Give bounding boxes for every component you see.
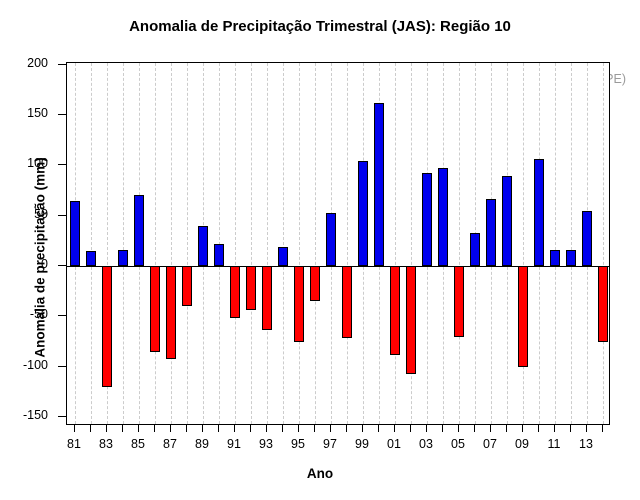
x-tick-label: 93	[251, 437, 281, 451]
x-tick-label: 03	[411, 437, 441, 451]
gridline	[571, 63, 572, 424]
x-tick-mark	[554, 425, 555, 432]
bar-94	[278, 247, 288, 266]
bar-86	[150, 266, 160, 352]
y-tick-label: 200	[8, 57, 48, 70]
x-tick-mark	[570, 425, 571, 432]
x-tick-label: 87	[155, 437, 185, 451]
y-tick-mark	[58, 366, 66, 367]
bar-88	[182, 266, 192, 306]
bar-14	[598, 266, 608, 342]
bar-01	[390, 266, 400, 355]
x-tick-mark	[106, 425, 107, 432]
y-tick-mark	[58, 416, 66, 417]
gridline	[523, 63, 524, 424]
x-tick-label: 99	[347, 437, 377, 451]
x-tick-mark	[362, 425, 363, 432]
y-tick-mark	[58, 265, 66, 266]
bar-81	[70, 201, 80, 266]
y-tick-mark	[58, 315, 66, 316]
x-tick-mark	[458, 425, 459, 432]
bar-98	[342, 266, 352, 338]
bar-96	[310, 266, 320, 301]
x-tick-mark	[74, 425, 75, 432]
gridline	[603, 63, 604, 424]
x-tick-mark	[378, 425, 379, 432]
bar-82	[86, 251, 96, 266]
x-tick-label: 97	[315, 437, 345, 451]
bar-06	[470, 233, 480, 266]
x-tick-mark	[490, 425, 491, 432]
x-tick-mark	[442, 425, 443, 432]
gridline	[555, 63, 556, 424]
bar-85	[134, 195, 144, 266]
x-tick-mark	[250, 425, 251, 432]
x-tick-label: 89	[187, 437, 217, 451]
x-axis-title: Ano	[0, 466, 640, 481]
bar-04	[438, 168, 448, 266]
plot-area	[66, 62, 610, 425]
bar-92	[246, 266, 256, 310]
bar-97	[326, 213, 336, 266]
gridline	[235, 63, 236, 424]
gridline	[283, 63, 284, 424]
x-tick-label: 05	[443, 437, 473, 451]
bar-02	[406, 266, 416, 374]
bar-12	[566, 250, 576, 266]
bar-05	[454, 266, 464, 337]
x-tick-mark	[298, 425, 299, 432]
y-tick-label: -150	[8, 409, 48, 422]
x-tick-mark	[186, 425, 187, 432]
x-tick-label: 83	[91, 437, 121, 451]
bar-95	[294, 266, 304, 342]
gridline	[171, 63, 172, 424]
x-tick-mark	[586, 425, 587, 432]
gridline	[299, 63, 300, 424]
gridline	[459, 63, 460, 424]
x-tick-mark	[474, 425, 475, 432]
bar-00	[374, 103, 384, 266]
y-axis-title-wrapper: Anomalia de precipitação (mm)	[10, 100, 30, 320]
x-tick-label: 07	[475, 437, 505, 451]
bar-10	[534, 159, 544, 266]
gridline	[347, 63, 348, 424]
bar-83	[102, 266, 112, 387]
gridline	[315, 63, 316, 424]
gridline	[91, 63, 92, 424]
x-tick-mark	[314, 425, 315, 432]
x-tick-mark	[234, 425, 235, 432]
x-tick-mark	[154, 425, 155, 432]
gridline	[187, 63, 188, 424]
x-tick-mark	[282, 425, 283, 432]
precipitation-anomaly-chart: Anomalia de Precipitação Trimestral (JAS…	[0, 0, 640, 500]
x-tick-mark	[426, 425, 427, 432]
y-axis-title: Anomalia de precipitação (mm)	[33, 128, 48, 388]
gridline	[267, 63, 268, 424]
x-tick-mark	[522, 425, 523, 432]
x-tick-mark	[202, 425, 203, 432]
x-tick-mark	[266, 425, 267, 432]
x-tick-mark	[218, 425, 219, 432]
x-tick-label: 95	[283, 437, 313, 451]
x-tick-mark	[506, 425, 507, 432]
gridline	[123, 63, 124, 424]
bar-90	[214, 244, 224, 266]
bar-84	[118, 250, 128, 266]
bar-08	[502, 176, 512, 266]
x-tick-mark	[394, 425, 395, 432]
gridline	[395, 63, 396, 424]
chart-title: Anomalia de Precipitação Trimestral (JAS…	[0, 18, 640, 35]
x-tick-label: 85	[123, 437, 153, 451]
x-tick-label: 09	[507, 437, 537, 451]
x-tick-mark	[170, 425, 171, 432]
x-tick-mark	[90, 425, 91, 432]
bar-07	[486, 199, 496, 266]
bar-87	[166, 266, 176, 359]
x-tick-mark	[122, 425, 123, 432]
x-tick-label: 11	[539, 437, 569, 451]
x-tick-mark	[410, 425, 411, 432]
bar-89	[198, 226, 208, 266]
bar-99	[358, 161, 368, 266]
x-tick-label: 13	[571, 437, 601, 451]
bar-91	[230, 266, 240, 318]
y-tick-mark	[58, 114, 66, 115]
x-tick-mark	[330, 425, 331, 432]
gridline	[155, 63, 156, 424]
x-tick-mark	[138, 425, 139, 432]
y-tick-mark	[58, 215, 66, 216]
x-tick-label: 91	[219, 437, 249, 451]
bar-93	[262, 266, 272, 330]
x-tick-mark	[602, 425, 603, 432]
bar-13	[582, 211, 592, 266]
x-tick-label: 81	[59, 437, 89, 451]
x-tick-mark	[346, 425, 347, 432]
x-tick-label: 01	[379, 437, 409, 451]
bar-03	[422, 173, 432, 266]
gridline	[251, 63, 252, 424]
bar-11	[550, 250, 560, 266]
bar-09	[518, 266, 528, 367]
x-tick-mark	[538, 425, 539, 432]
y-tick-mark	[58, 164, 66, 165]
y-tick-mark	[58, 64, 66, 65]
